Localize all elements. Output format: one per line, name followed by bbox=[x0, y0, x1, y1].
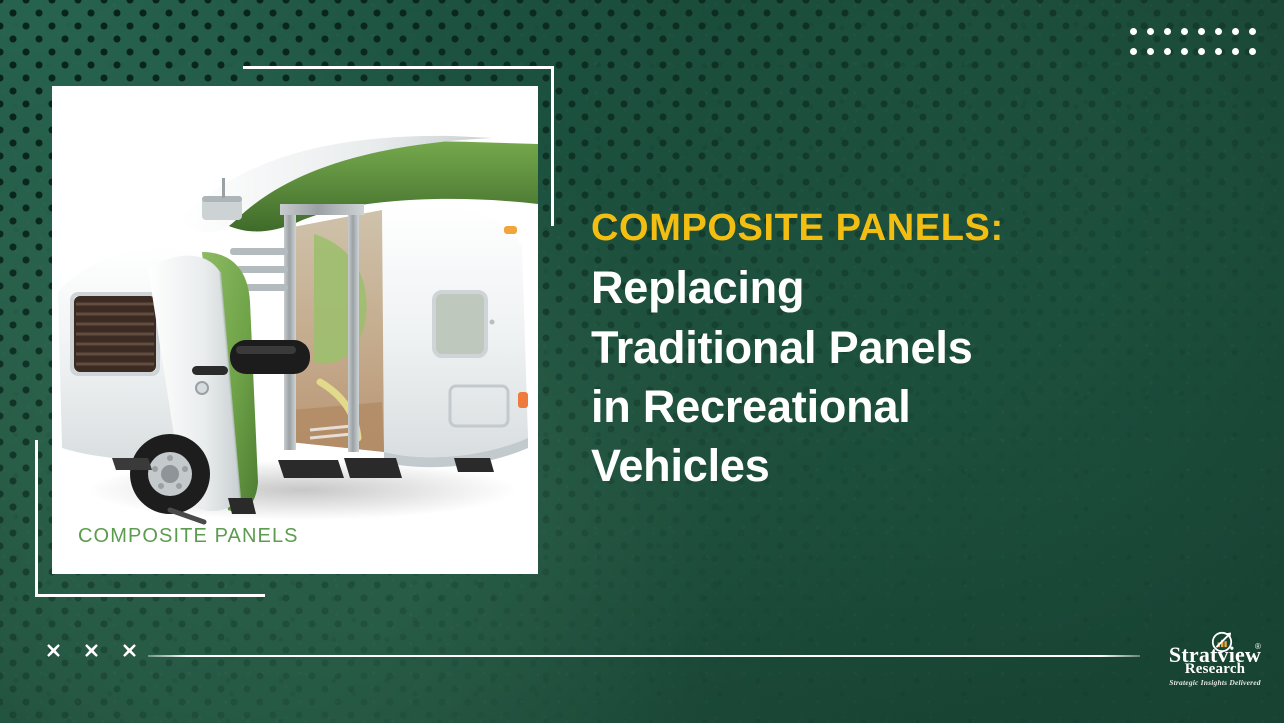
grid-dot bbox=[1147, 28, 1154, 35]
x-mark-icon bbox=[82, 641, 101, 660]
grid-dot bbox=[1215, 48, 1222, 55]
grid-dot bbox=[1147, 48, 1154, 55]
poster-canvas: COMPOSITE PANELS COMPOSITE PANELS: Repla… bbox=[0, 0, 1284, 723]
brand-logo: Stratview ® Research Strategic Insights … bbox=[1160, 630, 1270, 692]
headline-block: COMPOSITE PANELS: Replacing Traditional … bbox=[591, 208, 1251, 496]
grid-dot bbox=[1198, 48, 1205, 55]
headline-line: in Recreational bbox=[591, 381, 911, 432]
dot-grid-decoration bbox=[1130, 28, 1266, 68]
grid-dot bbox=[1164, 48, 1171, 55]
grid-dot bbox=[1232, 28, 1239, 35]
rv-composite-panel-illustration bbox=[52, 86, 538, 574]
media-block: COMPOSITE PANELS bbox=[0, 0, 600, 620]
grid-dot bbox=[1130, 28, 1137, 35]
x-marks-decoration bbox=[44, 641, 139, 660]
headline-title: Replacing Traditional Panels in Recreati… bbox=[591, 258, 1251, 496]
logo-subtitle: Research bbox=[1160, 662, 1270, 677]
x-mark-icon bbox=[120, 641, 139, 660]
headline-kicker: COMPOSITE PANELS: bbox=[591, 208, 1251, 248]
grid-dot bbox=[1215, 28, 1222, 35]
grid-dot bbox=[1130, 48, 1137, 55]
grid-dot bbox=[1249, 48, 1256, 55]
footer-divider-rule bbox=[148, 655, 1140, 657]
logo-tagline: Strategic Insights Delivered bbox=[1160, 679, 1270, 687]
photo-card: COMPOSITE PANELS bbox=[52, 86, 538, 574]
grid-dot bbox=[1198, 28, 1205, 35]
grid-dot bbox=[1181, 48, 1188, 55]
headline-line: Traditional Panels bbox=[591, 322, 973, 373]
grid-dot bbox=[1181, 28, 1188, 35]
grid-dot bbox=[1249, 28, 1256, 35]
grid-dot bbox=[1232, 48, 1239, 55]
grid-dot bbox=[1164, 28, 1171, 35]
logo-registered: ® bbox=[1255, 643, 1261, 651]
headline-line: Replacing bbox=[591, 262, 804, 313]
photo-caption: COMPOSITE PANELS bbox=[78, 525, 299, 548]
headline-line: Vehicles bbox=[591, 440, 770, 491]
x-mark-icon bbox=[44, 641, 63, 660]
